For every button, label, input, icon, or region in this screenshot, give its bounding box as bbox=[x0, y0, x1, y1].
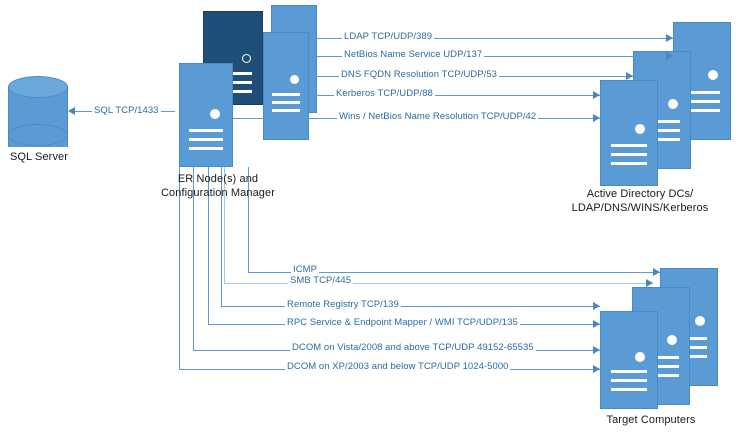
tc-connector-arrow-3 bbox=[593, 302, 600, 310]
conn-label-kerberos: Kerberos TCP/UDP/88 bbox=[334, 89, 435, 99]
conn-label-icmp: ICMP bbox=[291, 265, 319, 275]
conn-label-smb: SMB TCP/445 bbox=[288, 276, 353, 286]
tc-connector-arrow-4 bbox=[593, 320, 600, 328]
database-cylinder-icon bbox=[8, 76, 68, 158]
ad-connector-arrow-2 bbox=[666, 52, 673, 60]
ad-connector-arrow-5 bbox=[593, 114, 600, 122]
er-node-server-middle bbox=[263, 32, 309, 140]
conn-label-dns-fqdn: DNS FQDN Resolution TCP/UDP/53 bbox=[339, 70, 499, 80]
sql-server-caption: SQL Server bbox=[0, 150, 78, 164]
conn-label-rpc-wmi: RPC Service & Endpoint Mapper / WMI TCP/… bbox=[285, 318, 520, 328]
target-server-front bbox=[600, 311, 658, 409]
ad-server-front bbox=[600, 80, 658, 186]
conn-label-wins-netbios: Wins / NetBios Name Resolution TCP/UDP/4… bbox=[337, 112, 538, 122]
ad-connector-arrow-3 bbox=[626, 72, 633, 80]
er-node-server-front bbox=[179, 63, 233, 167]
conn-label-dcom-vista: DCOM on Vista/2008 and above TCP/UDP 491… bbox=[290, 343, 536, 353]
conn-label-sql: SQL TCP/1433 bbox=[92, 106, 161, 116]
conn-label-netbios-name-service: NetBios Name Service UDP/137 bbox=[342, 50, 484, 60]
conn-label-remote-registry: Remote Registry TCP/139 bbox=[285, 300, 401, 310]
conn-label-dcom-xp: DCOM on XP/2003 and below TCP/UDP 1024-5… bbox=[285, 362, 510, 372]
target-computers-caption: Target Computers bbox=[575, 413, 727, 427]
tc-connector-arrow-1 bbox=[653, 268, 660, 276]
conn-label-ldap: LDAP TCP/UDP/389 bbox=[342, 32, 434, 42]
tc-connector-arrow-2 bbox=[646, 279, 653, 287]
er-node-caption: ER Node(s) and Configuration Manager bbox=[146, 172, 290, 200]
tc-connector-line-3 bbox=[221, 306, 600, 307]
tc-connector-arrow-6 bbox=[593, 365, 600, 373]
ad-connector-arrow-4 bbox=[593, 91, 600, 99]
active-directory-caption: Active Directory DCs/ LDAP/DNS/WINS/Kerb… bbox=[540, 187, 740, 215]
ad-connector-arrow-1 bbox=[666, 34, 673, 42]
sql-connector-arrow bbox=[68, 107, 75, 115]
network-ports-diagram: SQL Server SQL TCP/1433 ER Node(s) and C… bbox=[0, 0, 741, 439]
tc-connector-arrow-5 bbox=[593, 346, 600, 354]
